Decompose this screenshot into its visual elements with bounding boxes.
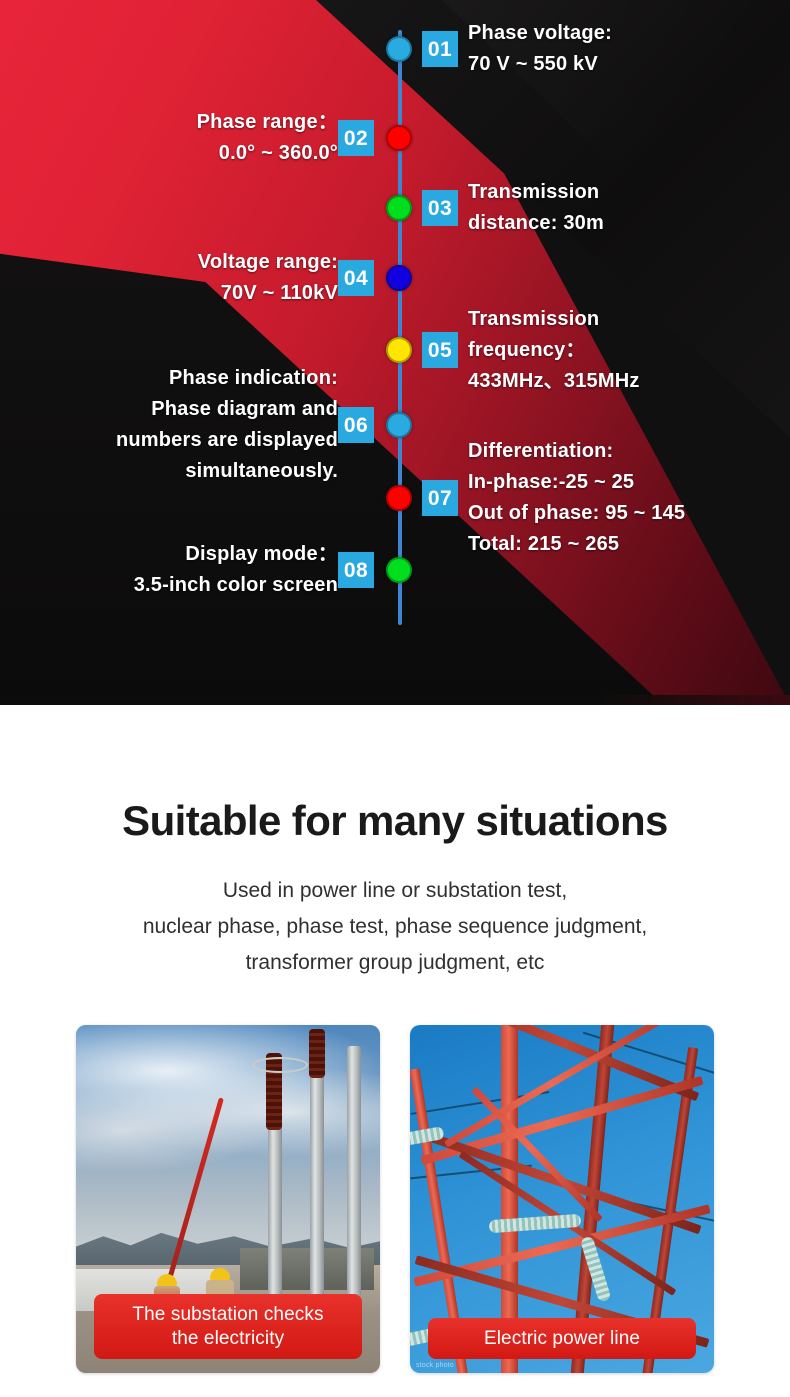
caption-line: Electric power line xyxy=(434,1327,690,1351)
timeline-item-text: Voltage range:70V ~ 110kV xyxy=(0,247,338,309)
timeline-item-text: Phase voltage:70 V ~ 550 kV xyxy=(468,18,786,80)
photo-card-list: The substation checksthe electricity xyxy=(0,1025,790,1373)
subtitle-line: Used in power line or substation test, xyxy=(0,873,790,909)
hero-bottom-band xyxy=(0,695,790,705)
hard-hat xyxy=(157,1274,177,1286)
page-title: Suitable for many situations xyxy=(0,797,790,845)
timeline-item-line: Out of phase: 95 ~ 145 xyxy=(468,498,786,529)
timeline-item-line: Phase voltage: xyxy=(468,18,786,49)
timeline-dot xyxy=(386,557,412,583)
timeline-item-08: Display mode：3.5-inch color screen08 xyxy=(0,530,790,610)
timeline-dot xyxy=(386,485,412,511)
photo-card-power-line[interactable]: stock photo Electric power line xyxy=(410,1025,714,1373)
photo-caption: The substation checksthe electricity xyxy=(94,1294,362,1360)
timeline-dot xyxy=(386,265,412,291)
timeline-number-badge: 04 xyxy=(338,260,374,296)
timeline-item-line: Transmission xyxy=(468,177,786,208)
timeline-item-line: In-phase:-25 ~ 25 xyxy=(468,467,786,498)
stock-watermark: stock photo xyxy=(416,1362,454,1369)
subtitle-line: transformer group judgment, etc xyxy=(0,945,790,981)
timeline-item-line: 0.0° ~ 360.0° xyxy=(0,138,338,169)
timeline-number-badge: 08 xyxy=(338,552,374,588)
timeline-item-line: Voltage range: xyxy=(0,247,338,278)
timeline-item-text: Phase range：0.0° ~ 360.0° xyxy=(0,107,338,169)
timeline-item-02: Phase range：0.0° ~ 360.0°02 xyxy=(0,98,790,178)
timeline-item-line: Differentiation: xyxy=(468,436,786,467)
subtitle-line: nuclear phase, phase test, phase sequenc… xyxy=(0,909,790,945)
timeline-number-badge: 01 xyxy=(422,31,458,67)
timeline-item-text: Transmissiondistance: 30m xyxy=(468,177,786,239)
timeline-item-line: Phase indication: xyxy=(0,363,338,394)
timeline-dot xyxy=(386,412,412,438)
timeline-item-text: Display mode：3.5-inch color screen xyxy=(0,539,338,601)
timeline-number-badge: 06 xyxy=(338,407,374,443)
timeline-item-01: 01Phase voltage:70 V ~ 550 kV xyxy=(0,9,790,89)
section-subtitle: Used in power line or substation test,nu… xyxy=(0,873,790,981)
hard-hat xyxy=(210,1268,230,1280)
timeline-item-line: 3.5-inch color screen xyxy=(0,570,338,601)
timeline-number-badge: 05 xyxy=(422,332,458,368)
caption-line: the electricity xyxy=(100,1327,356,1351)
photo-card-substation[interactable]: The substation checksthe electricity xyxy=(76,1025,380,1373)
timeline-item-line: Transmission xyxy=(468,304,786,335)
timeline-item-line: 70V ~ 110kV xyxy=(0,278,338,309)
timeline-item-line: Display mode： xyxy=(0,539,338,570)
timeline-dot xyxy=(386,337,412,363)
timeline-number-badge: 07 xyxy=(422,480,458,516)
caption-line: The substation checks xyxy=(100,1303,356,1327)
timeline-number-badge: 03 xyxy=(422,190,458,226)
timeline-item-line: Phase diagram and xyxy=(0,394,338,425)
timeline-dot xyxy=(386,36,412,62)
photo-caption: Electric power line xyxy=(428,1318,696,1360)
timeline-item-07: 07Differentiation:In-phase:-25 ~ 25Out o… xyxy=(0,458,790,538)
timeline-item-line: 70 V ~ 550 kV xyxy=(468,49,786,80)
sky-backdrop xyxy=(76,1025,380,1255)
timeline-item-line: numbers are displayed xyxy=(0,425,338,456)
timeline-item-text: Transmissionfrequency：433MHz、315MHz xyxy=(468,304,786,397)
timeline-number-badge: 02 xyxy=(338,120,374,156)
situations-section: Suitable for many situations Used in pow… xyxy=(0,797,790,1397)
timeline-dot xyxy=(386,195,412,221)
hero-specs-banner: 01Phase voltage:70 V ~ 550 kVPhase range… xyxy=(0,0,790,705)
timeline-item-line: frequency： xyxy=(468,335,786,366)
timeline-dot xyxy=(386,125,412,151)
timeline-item-line: Phase range： xyxy=(0,107,338,138)
timeline-item-line: distance: 30m xyxy=(468,208,786,239)
timeline-item-03: 03Transmissiondistance: 30m xyxy=(0,168,790,248)
corona-ring xyxy=(252,1057,308,1073)
insulator-stack xyxy=(309,1029,325,1078)
